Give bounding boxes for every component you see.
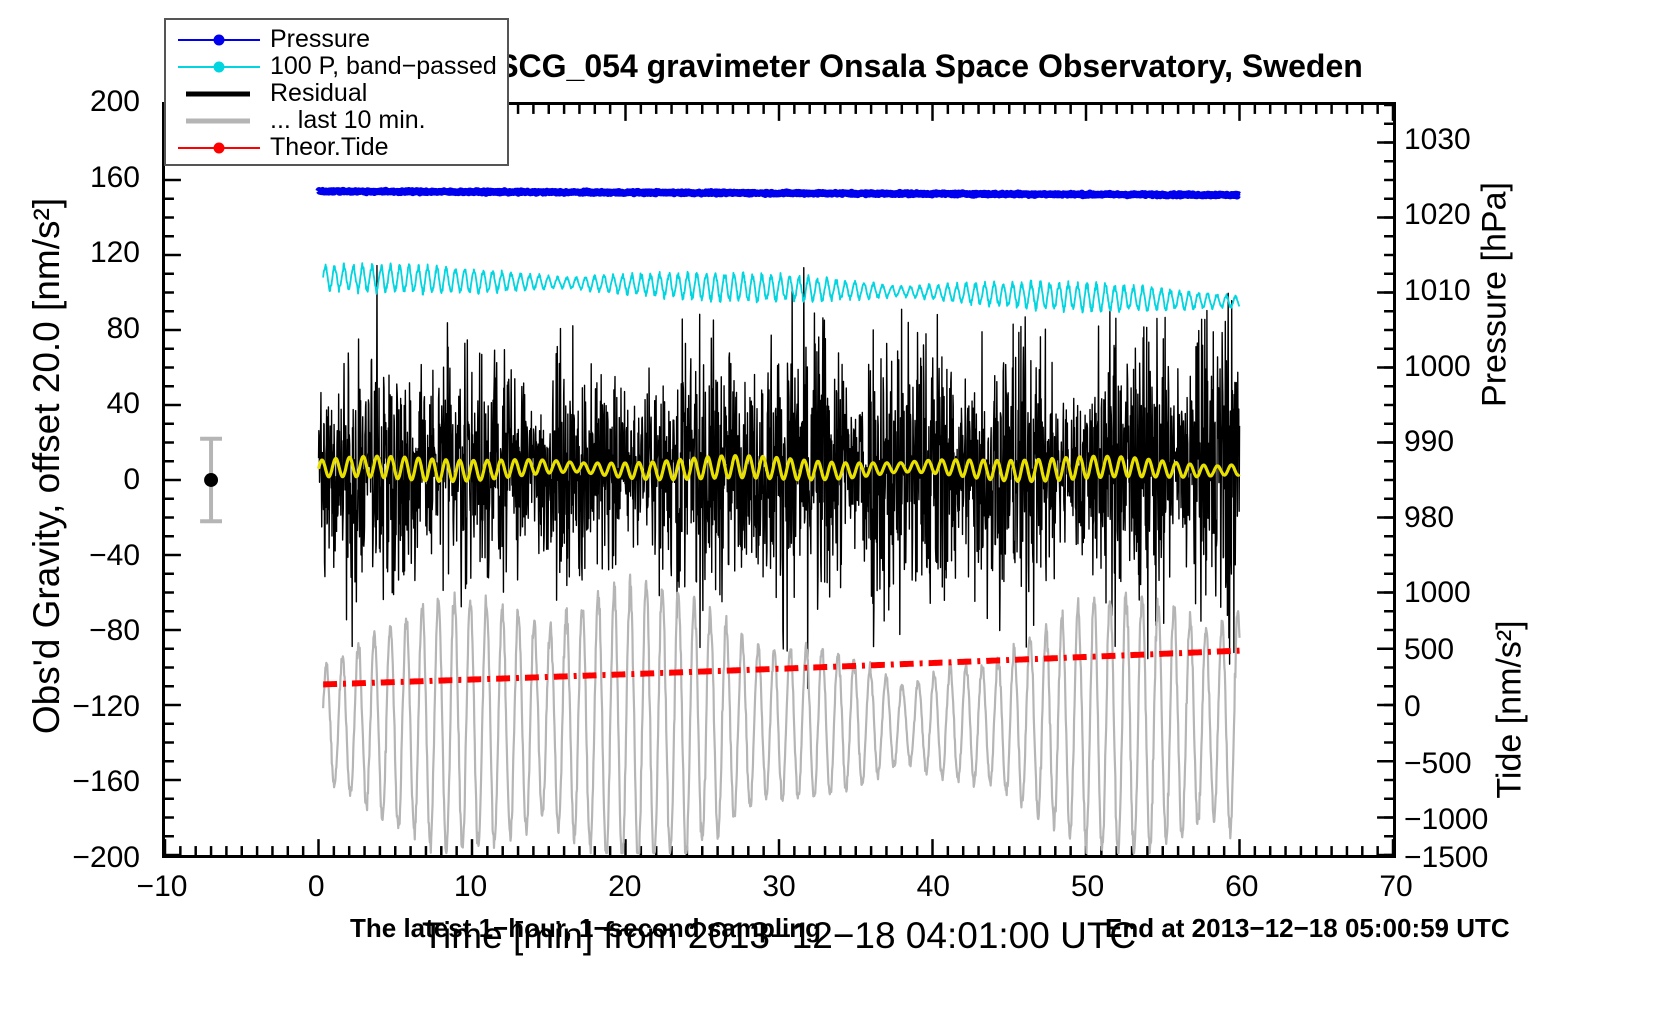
y-tick-label-left: −80 (89, 616, 140, 646)
y-tick-label-tide: 1000 (1404, 578, 1471, 608)
series-path (323, 575, 1239, 853)
plot-area: The latest 1−hour, 1−second sampling End… (162, 102, 1396, 858)
legend-label-residual: Residual (262, 80, 367, 107)
x-tick-label: 60 (1225, 872, 1258, 902)
legend-swatch-bandpassed (176, 53, 262, 80)
x-tick-label: 40 (917, 872, 950, 902)
y-tick-label-tide: −1500 (1404, 843, 1488, 873)
legend-swatch-pressure (176, 26, 262, 53)
y-tick-label-left: 120 (90, 238, 140, 268)
y-tick-label-tide: −1000 (1404, 805, 1488, 835)
legend-item-bandpassed[interactable]: 100 P, band−passed (176, 53, 499, 80)
y-tick-label-pressure: 1010 (1404, 276, 1471, 306)
legend-label-theortide: Theor.Tide (262, 134, 389, 161)
legend: Pressure 100 P, band−passed Residual ...… (164, 18, 509, 166)
x-tick-label: 10 (454, 872, 487, 902)
legend-swatch-last10min (176, 107, 262, 134)
y-tick-label-pressure: 1000 (1404, 352, 1471, 382)
y-axis-ticks-left: 20016012080400−40−80−120−160−200 (0, 0, 140, 1020)
legend-label-last10min: ... last 10 min. (262, 107, 426, 134)
legend-item-theortide[interactable]: Theor.Tide (176, 134, 499, 161)
typical-noise-level-marker (200, 439, 222, 522)
y-tick-label-left: 40 (107, 389, 140, 419)
x-tick-label: 70 (1379, 872, 1412, 902)
legend-item-pressure[interactable]: Pressure (176, 26, 499, 53)
series-path (323, 651, 1239, 685)
y-tick-label-tide: 0 (1404, 692, 1421, 722)
y-tick-label-pressure: 990 (1404, 427, 1454, 457)
x-tick-label: 20 (608, 872, 641, 902)
series-path (319, 190, 1240, 196)
legend-label-pressure: Pressure (262, 26, 370, 53)
y-tick-label-left: 80 (107, 314, 140, 344)
y-tick-label-left: −120 (72, 692, 140, 722)
x-tick-label: −10 (137, 872, 188, 902)
y-tick-label-pressure: 1030 (1404, 125, 1471, 155)
y-tick-label-left: −200 (72, 843, 140, 873)
plot-canvas (165, 105, 1393, 855)
y-tick-label-left: −160 (72, 767, 140, 797)
legend-swatch-residual (176, 80, 262, 107)
y-tick-label-left: −40 (89, 541, 140, 571)
y-tick-label-tide: −500 (1404, 749, 1472, 779)
y-tick-label-left: 200 (90, 87, 140, 117)
annotation-sampling-note: The latest 1−hour, 1−second sampling (350, 913, 821, 944)
x-tick-label: 50 (1071, 872, 1104, 902)
y-tick-label-left: 160 (90, 163, 140, 193)
x-tick-label: 0 (308, 872, 325, 902)
x-tick-label: 30 (762, 872, 795, 902)
chart-title: SCG_054 gravimeter Onsala Space Observat… (430, 48, 1430, 85)
x-axis-ticks: −10010203040506070 (0, 872, 1660, 916)
legend-item-residual[interactable]: Residual (176, 80, 499, 107)
series-path (323, 263, 1239, 312)
legend-item-last10min[interactable]: ... last 10 min. (176, 107, 499, 134)
y-tick-label-tide: 500 (1404, 635, 1454, 665)
legend-swatch-theortide (176, 134, 262, 161)
y-tick-label-pressure: 980 (1404, 503, 1454, 533)
legend-label-bandpassed: 100 P, band−passed (262, 53, 497, 80)
gravimeter-chart: SCG_054 gravimeter Onsala Space Observat… (0, 0, 1660, 1020)
y-tick-label-left: 0 (123, 465, 140, 495)
data-series-group (319, 190, 1240, 853)
y-axis-ticks-right: 103010201010100099098010005000−500−1000−… (1404, 0, 1524, 1020)
y-tick-label-pressure: 1020 (1404, 200, 1471, 230)
annotation-end-time: End at 2013−12−18 05:00:59 UTC (1105, 913, 1510, 944)
